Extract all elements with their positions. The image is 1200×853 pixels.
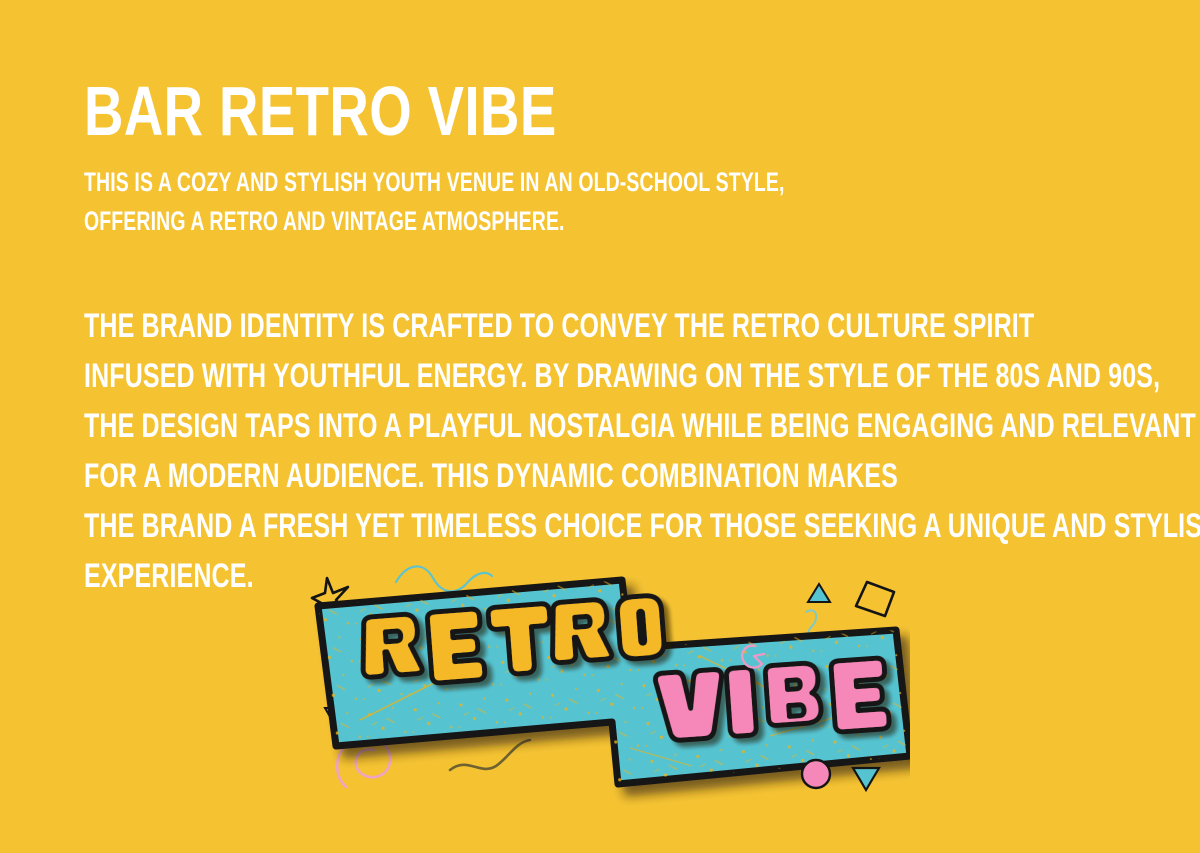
- body-copy: THE BRAND IDENTITY IS CRAFTED TO CONVEY …: [84, 240, 863, 602]
- body-line: INFUSED WITH YOUTHFUL ENERGY. BY DRAWING…: [84, 352, 863, 402]
- subtitle: THIS IS A COZY AND STYLISH YOUTH VENUE I…: [84, 145, 847, 240]
- subtitle-line: THIS IS A COZY AND STYLISH YOUTH VENUE I…: [84, 163, 847, 201]
- page-title: BAR RETRO VIBE: [84, 0, 911, 145]
- teal-triangle-down-right: [853, 768, 879, 790]
- retro-letter-O: [616, 595, 665, 660]
- pink-circle: [802, 760, 830, 788]
- text-content-block: BAR RETRO VIBE THIS IS A COZY AND STYLIS…: [84, 0, 1144, 602]
- teal-squiggle-top: [396, 566, 492, 591]
- retro-vibe-logo: [300, 560, 910, 810]
- body-line: THE BRAND IDENTITY IS CRAFTED TO CONVEY …: [84, 302, 863, 352]
- body-line: FOR A MODERN AUDIENCE. THIS DYNAMIC COMB…: [84, 452, 863, 502]
- vibe-letter-E: [831, 658, 890, 733]
- subtitle-line: OFFERING A RETRO AND VINTAGE ATMOSPHERE.: [84, 202, 847, 240]
- retro-letter-E: [427, 609, 485, 684]
- poster-canvas: BAR RETRO VIBE THIS IS A COZY AND STYLIS…: [0, 0, 1200, 853]
- olive-squiggle-bottom: [450, 740, 530, 770]
- body-line: THE BRAND A FRESH YET TIMELESS CHOICE FO…: [84, 502, 863, 552]
- vibe-letter-B: [765, 662, 822, 726]
- yellow-diamond-outline: [856, 582, 894, 616]
- teal-triangle-up-right: [808, 584, 830, 602]
- vibe-letter-I: [726, 667, 757, 737]
- body-line: THE DESIGN TAPS INTO A PLAYFUL NOSTALGIA…: [84, 402, 863, 452]
